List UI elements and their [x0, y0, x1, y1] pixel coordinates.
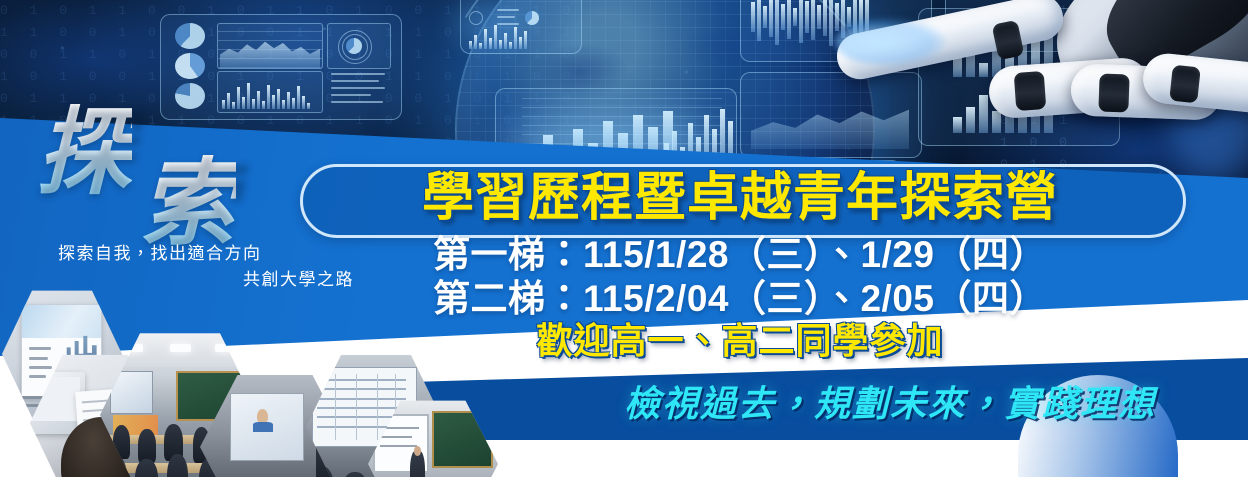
event-title: 學習歷程暨卓越青年探索營 [304, 168, 1176, 228]
session-date-1: 第一梯：115/1/28（三）、1/29（四） [300, 234, 1180, 276]
welcome-notice: 歡迎高一、高二同學參加 [300, 320, 1180, 362]
logo-char-explore-1: 探 [36, 104, 132, 200]
session-date-2: 第二梯：115/2/04（三）、2/05（四） [300, 278, 1180, 320]
logo-char-explore-2: 索 [140, 155, 236, 251]
hud-dashboard-panel [160, 14, 402, 120]
robot-hand [845, 0, 1248, 185]
fingertip-glow [835, 18, 945, 66]
hud-icon-panel [460, 0, 582, 54]
tagline-line-1: 探索自我，找出適合方向 [58, 244, 262, 264]
event-slogan: 檢視過去，規劃未來，實踐理想 [560, 382, 1220, 426]
event-banner: 0 1 0 1 1 0 0 1 0 1 1 0 1 0 0 1 1 0 1 0 … [0, 0, 1248, 477]
